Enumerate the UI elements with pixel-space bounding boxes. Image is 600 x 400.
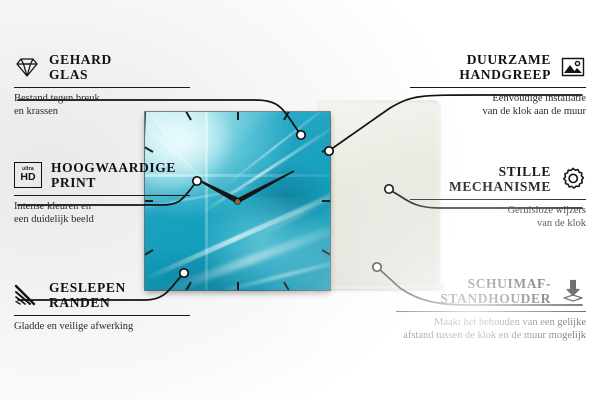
- divider: [410, 87, 586, 88]
- feature-geslepen-randen: GESLEPEN RANDEN Gladde en veilige afwerk…: [14, 280, 190, 334]
- diamond-icon: [14, 54, 40, 80]
- divider: [14, 315, 190, 316]
- feature-title: DUURZAME HANDGREEP: [459, 52, 551, 82]
- feature-duurzame-handgreep: DUURZAME HANDGREEP Eenvoudige installati…: [410, 52, 586, 118]
- feature-subtitle: Maakt het behouden van een gelijke afsta…: [396, 317, 586, 342]
- feature-subtitle: Bestand tegen breuk en krassen: [14, 93, 190, 118]
- divider: [410, 199, 586, 200]
- picture-frame-icon: [560, 54, 586, 80]
- feature-gehard-glas: GEHARD GLAS Bestand tegen breuk en krass…: [14, 52, 190, 118]
- feature-header: STILLE MECHANISME: [410, 164, 586, 194]
- clock-hub: [235, 199, 240, 204]
- feature-hoogwaardige-print: ultra HD HOOGWAARDIGE PRINT Intense kleu…: [14, 160, 190, 226]
- product-infographic: GEHARD GLAS Bestand tegen breuk en krass…: [0, 0, 600, 400]
- gear-icon: [560, 166, 586, 192]
- divider: [396, 311, 586, 312]
- feature-subtitle: Geruisloze wijzers van de klok: [410, 205, 586, 230]
- feature-subtitle: Eenvoudige installatie van de klok aan d…: [410, 93, 586, 118]
- ultra-hd-icon: ultra HD: [14, 162, 42, 188]
- diagonal-lines-icon: [14, 282, 40, 308]
- divider: [14, 87, 190, 88]
- feature-title: GESLEPEN RANDEN: [49, 280, 126, 310]
- feature-title: STILLE MECHANISME: [449, 164, 551, 194]
- feature-header: SCHUIMAF- STANDHOUDER: [396, 276, 586, 306]
- feature-subtitle: Gladde en veilige afwerking: [14, 321, 190, 334]
- minute-hand: [236, 169, 295, 203]
- feature-stille-mechanisme: STILLE MECHANISME Geruisloze wijzers van…: [410, 164, 586, 230]
- feature-header: GESLEPEN RANDEN: [14, 280, 190, 310]
- feature-title: HOOGWAARDIGE PRINT: [51, 160, 176, 190]
- divider: [14, 195, 190, 196]
- feature-title: SCHUIMAF- STANDHOUDER: [440, 276, 551, 306]
- feature-header: DUURZAME HANDGREEP: [410, 52, 586, 82]
- feature-header: GEHARD GLAS: [14, 52, 190, 82]
- down-arrow-stamp-icon: [560, 278, 586, 304]
- feature-subtitle: Intense kleuren en een duidelijk beeld: [14, 201, 190, 226]
- feature-schuimafstandhouder: SCHUIMAF- STANDHOUDER Maakt het behouden…: [396, 276, 586, 342]
- feature-header: ultra HD HOOGWAARDIGE PRINT: [14, 160, 190, 190]
- feature-title: GEHARD GLAS: [49, 52, 112, 82]
- hour-hand: [194, 176, 239, 204]
